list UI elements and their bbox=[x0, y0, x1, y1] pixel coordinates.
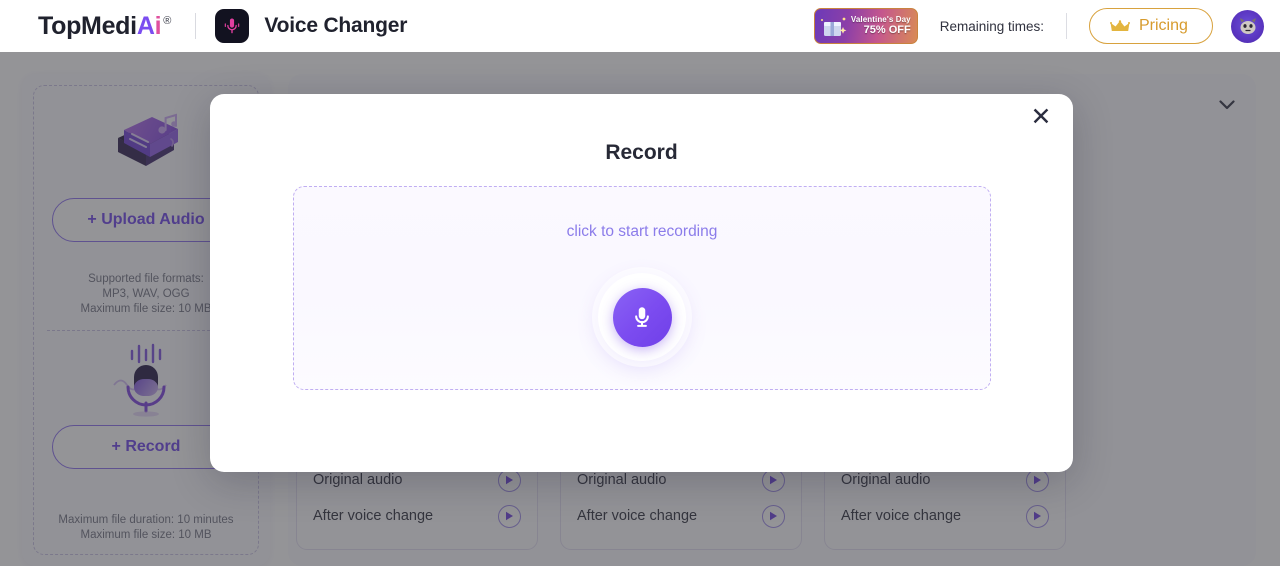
promo-line-1: Valentine's Day bbox=[851, 16, 911, 25]
registered-trademark-icon: ® bbox=[163, 15, 171, 27]
brand-name-i: i bbox=[155, 14, 162, 39]
pricing-button[interactable]: Pricing bbox=[1089, 8, 1213, 44]
promo-banner[interactable]: Valentine's Day 75% OFF bbox=[814, 8, 918, 44]
brand-name-a: A bbox=[137, 14, 155, 39]
modal-title: Record bbox=[210, 141, 1073, 165]
recording-dropzone[interactable]: click to start recording bbox=[293, 186, 991, 390]
gift-box-icon bbox=[819, 14, 849, 40]
record-modal: ✕ Record click to start recording bbox=[210, 94, 1073, 472]
app-root: TopMediAi ® Voice Changer bbox=[0, 0, 1280, 566]
pricing-label: Pricing bbox=[1139, 17, 1188, 35]
app-header: TopMediAi ® Voice Changer bbox=[0, 0, 1280, 52]
brand-logo[interactable]: TopMediAi ® bbox=[38, 14, 171, 39]
header-right-group: Valentine's Day 75% OFF Remaining times:… bbox=[814, 8, 1264, 44]
recording-prompt: click to start recording bbox=[294, 223, 990, 241]
app-microphone-icon bbox=[215, 9, 249, 43]
start-recording-button[interactable] bbox=[598, 273, 686, 361]
microphone-icon bbox=[613, 288, 672, 347]
promo-line-2: 75% OFF bbox=[864, 24, 911, 36]
remaining-times-label: Remaining times: bbox=[940, 19, 1044, 34]
user-avatar-icon bbox=[1235, 13, 1261, 39]
page-title: Voice Changer bbox=[264, 14, 407, 38]
close-icon[interactable]: ✕ bbox=[1025, 101, 1057, 133]
header-divider-2 bbox=[1066, 13, 1067, 39]
crown-icon bbox=[1110, 19, 1130, 34]
brand-name-part1: TopMedi bbox=[38, 14, 137, 39]
header-divider bbox=[195, 13, 196, 39]
avatar[interactable] bbox=[1231, 10, 1264, 43]
